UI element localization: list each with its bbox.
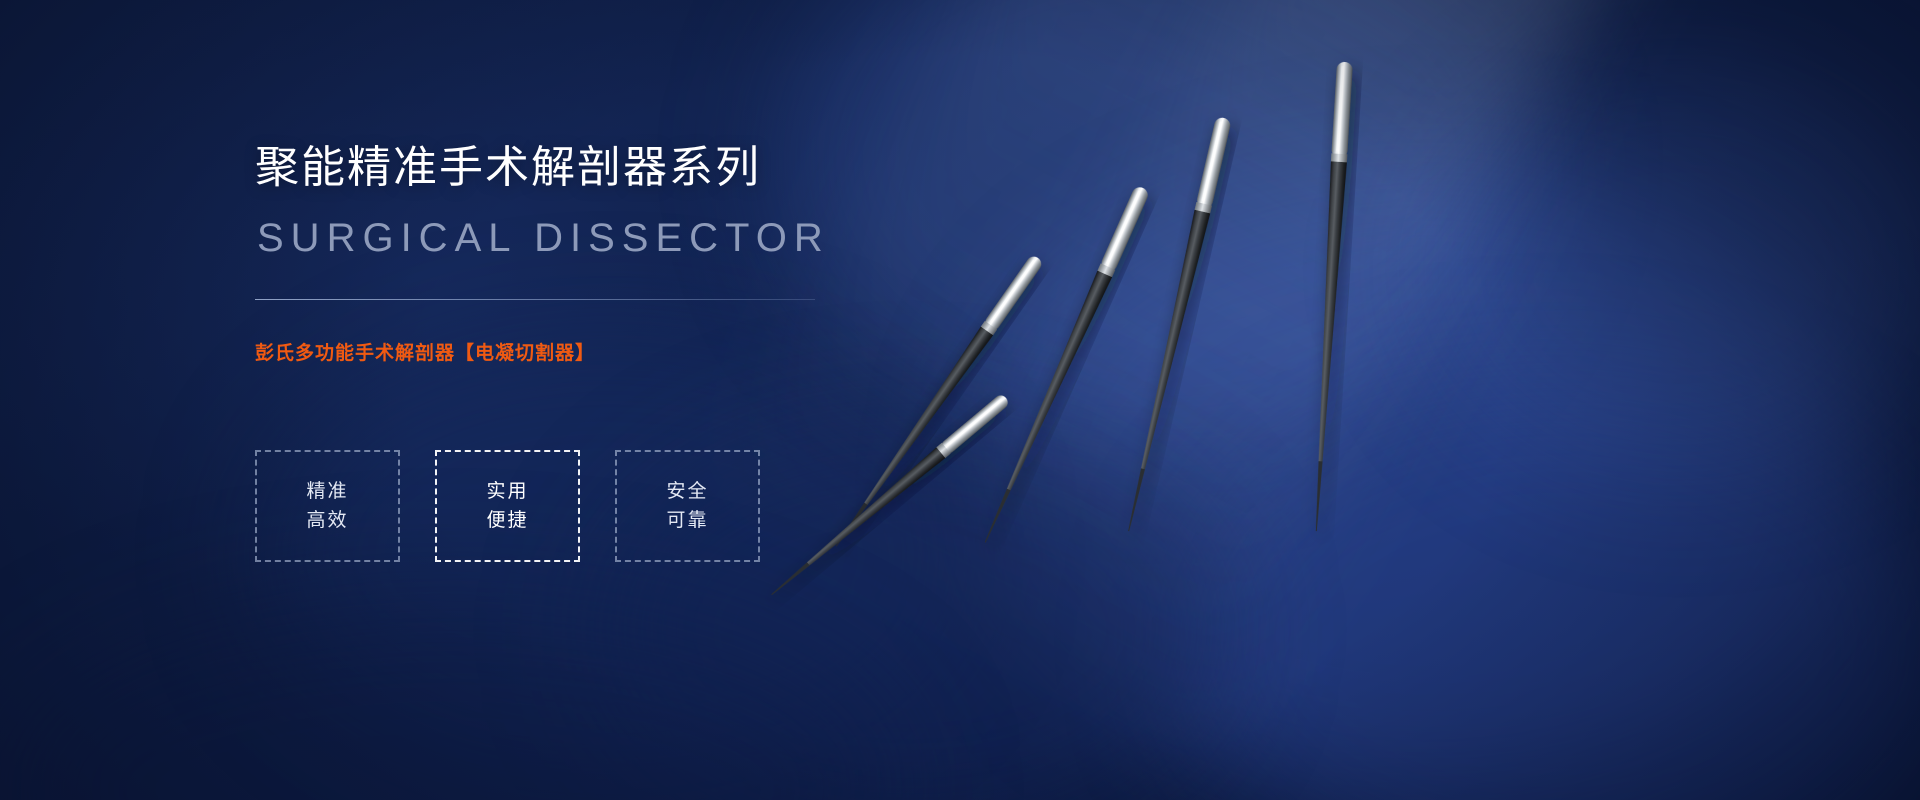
title-divider <box>255 299 815 300</box>
feature-badge-safety: 安全 可靠 <box>615 450 760 562</box>
hero-banner: 聚能精准手术解剖器系列 SURGICAL DISSECTOR 彭氏多功能手术解剖… <box>0 0 1920 800</box>
feature-badge-line2: 便捷 <box>486 511 528 530</box>
hero-copy-block: 聚能精准手术解剖器系列 SURGICAL DISSECTOR 彭氏多功能手术解剖… <box>255 0 895 800</box>
feature-badge-list: 精准 高效 实用 便捷 安全 可靠 <box>255 450 760 562</box>
product-subtitle: 彭氏多功能手术解剖器【电凝切割器】 <box>255 338 595 365</box>
page-title: 聚能精准手术解剖器系列 <box>255 146 761 190</box>
feature-badge-line2: 高效 <box>306 511 348 530</box>
feature-badge-line1: 精准 <box>306 482 348 501</box>
light-beam <box>818 0 1642 800</box>
background-blur-shape <box>1420 60 1920 480</box>
feature-badge-precision: 精准 高效 <box>255 450 400 562</box>
background-blur-shape <box>1180 380 1920 800</box>
feature-badge-line2: 可靠 <box>666 511 708 530</box>
page-title-english: SURGICAL DISSECTOR <box>257 218 830 258</box>
feature-badge-line1: 实用 <box>486 482 528 501</box>
feature-badge-practical: 实用 便捷 <box>435 450 580 562</box>
feature-badge-line1: 安全 <box>666 482 708 501</box>
background-blur-shape <box>980 170 1880 790</box>
